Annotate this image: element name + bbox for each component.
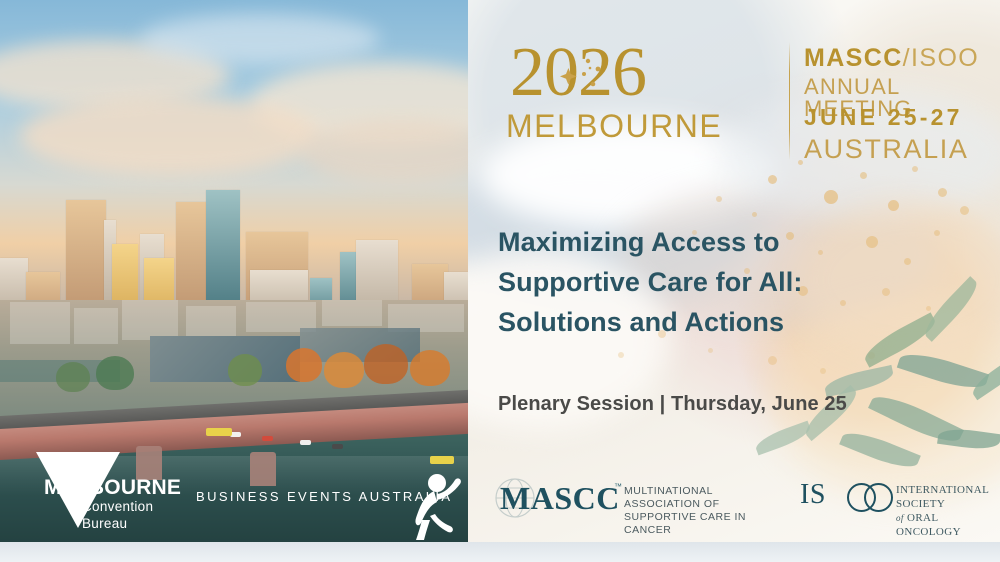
- mcb-line1: MELBOURNE: [44, 476, 181, 500]
- cloud-shape: [140, 14, 380, 64]
- vehicle: [262, 436, 273, 441]
- isoo-tagline-line-2: of ORAL ONCOLOGY: [896, 511, 1000, 539]
- isoo-tagline-oral-oncology: ORAL ONCOLOGY: [896, 512, 961, 538]
- melbourne-convention-bureau-logo: MELBOURNE Convention Bureau: [22, 452, 202, 538]
- session-title: Maximizing Access to Supportive Care for…: [498, 222, 898, 342]
- mascc-tagline-line-1: MULTINATIONAL ASSOCIATION OF: [624, 485, 776, 511]
- mascc-wordmark: MASCC: [500, 482, 620, 514]
- isoo-logo: IS INTERNATIONAL SOCIETY of ORAL ONCOLOG…: [800, 478, 1000, 522]
- isoo-interlocking-rings-icon: [847, 483, 891, 508]
- meeting-country: AUSTRALIA: [804, 136, 968, 163]
- mcb-line3: Bureau: [82, 516, 127, 531]
- vehicle: [332, 444, 343, 449]
- page-bottom-strip: [0, 542, 1000, 562]
- isoo-wordmark: IS: [800, 481, 826, 509]
- bridge-pier: [250, 452, 276, 486]
- city-melbourne: MELBOURNE: [506, 110, 722, 142]
- isoo-tagline-of: of: [896, 513, 904, 523]
- session-meta: Plenary Session | Thursday, June 25: [498, 391, 847, 417]
- meeting-dates: JUNE 25-27: [804, 106, 963, 129]
- mascc-tagline-line-2: SUPPORTIVE CARE IN CANCER: [624, 511, 776, 537]
- meeting-name: MASCC/ISOO: [804, 46, 979, 71]
- kangaroo-icon: [404, 470, 464, 540]
- melbourne-skyline-photo: MELBOURNE Convention Bureau BUSINESS EVE…: [0, 0, 468, 542]
- session-title-line-3: Solutions and Actions: [498, 302, 898, 342]
- isoo-tagline-line-1: INTERNATIONAL SOCIETY: [896, 483, 1000, 511]
- session-title-line-1: Maximizing Access to: [498, 222, 898, 262]
- organization-logos: MASCC ™ MULTINATIONAL ASSOCIATION OF SUP…: [490, 474, 990, 526]
- meeting-name-isoo: /ISOO: [903, 44, 979, 72]
- tram: [206, 428, 232, 436]
- lockup-divider: [789, 42, 790, 160]
- mascc-logo: MASCC ™ MULTINATIONAL ASSOCIATION OF SUP…: [490, 476, 776, 522]
- mcb-line2: Convention: [82, 499, 153, 514]
- mascc-tagline: MULTINATIONAL ASSOCIATION OF SUPPORTIVE …: [624, 485, 776, 537]
- southern-cross-icon: [556, 52, 612, 100]
- tram: [430, 456, 454, 464]
- mascc-trademark: ™: [614, 482, 622, 491]
- meeting-name-mascc: MASCC: [804, 44, 903, 72]
- meeting-lockup: 2026 MELBOURNE MASCC/ISOO ANNUAL MEETING…: [498, 38, 978, 168]
- info-panel: 2026 MELBOURNE MASCC/ISOO ANNUAL MEETING…: [468, 0, 1000, 542]
- isoo-tagline: INTERNATIONAL SOCIETY of ORAL ONCOLOGY: [896, 483, 1000, 539]
- vehicle: [300, 440, 311, 445]
- conference-slide: MELBOURNE Convention Bureau BUSINESS EVE…: [0, 0, 1000, 562]
- session-title-line-2: Supportive Care for All:: [498, 262, 898, 302]
